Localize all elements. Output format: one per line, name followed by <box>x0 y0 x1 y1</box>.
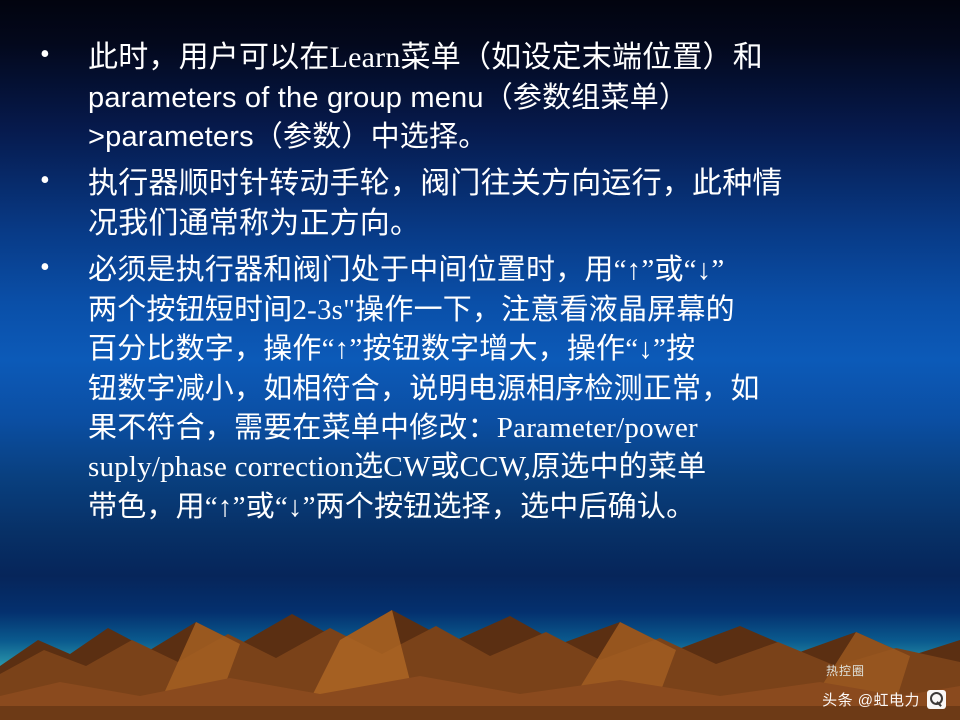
bullet-3-line-7: 带色，用“↑”或“↓”两个按钮选择，选中后确认。 <box>88 488 930 527</box>
bullet-3-line-2: 两个按钮短时间2-3s"操作一下，注意看液晶屏幕的 <box>88 291 930 330</box>
bullet-1-line-2: parameters of the group menu（参数组菜单） <box>88 79 930 118</box>
bullet-3-line-3: 百分比数字，操作“↑”按钮数字增大，操作“↓”按 <box>88 330 930 369</box>
bullet-list: 此时，用户可以在Learn菜单（如设定末端位置）和 parameters of … <box>30 38 930 527</box>
bullet-1-line-1: 此时，用户可以在Learn菜单（如设定末端位置）和 <box>88 38 930 79</box>
slide-canvas: 此时，用户可以在Learn菜单（如设定末端位置）和 parameters of … <box>0 0 960 720</box>
ground-base <box>0 706 960 720</box>
watermark-badge: 热控圈 <box>826 662 865 679</box>
watermark: 头条 @虹电力 <box>822 689 946 710</box>
slide-content: 此时，用户可以在Learn菜单（如设定末端位置）和 parameters of … <box>0 0 960 533</box>
mountain-scenery <box>0 570 960 720</box>
bullet-3-line-1: 必须是执行器和阀门处于中间位置时，用“↑”或“↓” <box>88 251 930 290</box>
watermark-text: 头条 @虹电力 <box>822 689 920 710</box>
bullet-1-line-3: >parameters（参数）中选择。 <box>88 118 930 157</box>
bullet-3-line-4: 钮数字减小，如相符合，说明电源相序检测正常，如 <box>88 370 930 409</box>
bullet-2-line-2: 况我们通常称为正方向。 <box>88 204 930 245</box>
bullet-item-2: 执行器顺时针转动手轮，阀门往关方向运行，此种情 况我们通常称为正方向。 <box>30 164 930 246</box>
bullet-3-line-5: 果不符合，需要在菜单中修改：Parameter/power <box>88 409 930 448</box>
bullet-2-line-1: 执行器顺时针转动手轮，阀门往关方向运行，此种情 <box>88 164 930 205</box>
magnifier-icon <box>927 690 946 709</box>
bullet-item-1: 此时，用户可以在Learn菜单（如设定末端位置）和 parameters of … <box>30 38 930 158</box>
bullet-3-line-6: suply/phase correction选CW或CCW,原选中的菜单 <box>88 448 930 487</box>
bullet-item-3: 必须是执行器和阀门处于中间位置时，用“↑”或“↓” 两个按钮短时间2-3s"操作… <box>30 251 930 527</box>
